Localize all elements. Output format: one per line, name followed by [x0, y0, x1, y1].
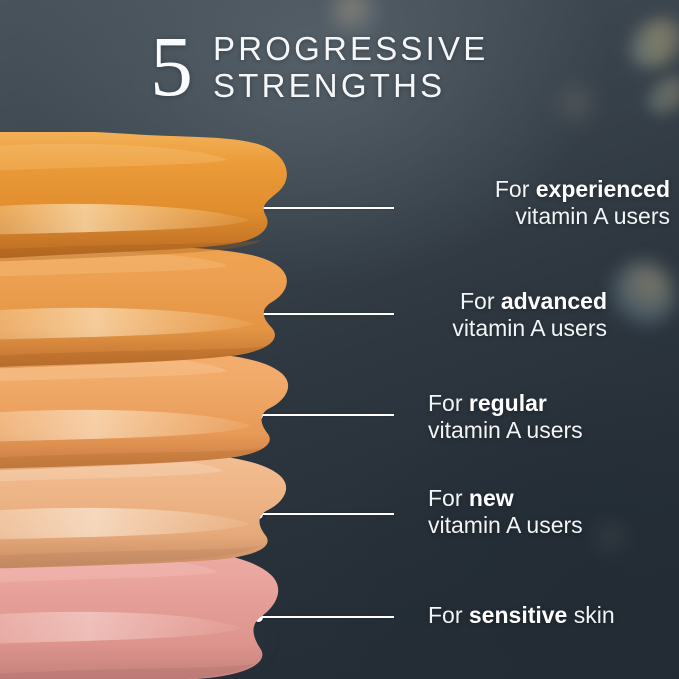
lens-flare-icon	[621, 9, 679, 78]
lens-flare-icon	[555, 84, 601, 126]
description-strength-1: For sensitive skin	[428, 602, 615, 629]
description-strength-6: For regular vitamin A users	[428, 390, 583, 444]
desc-prefix: For	[495, 176, 536, 202]
desc-emphasis: new	[469, 485, 514, 511]
desc-line-2: vitamin A users	[495, 203, 670, 230]
lens-flare-icon	[592, 520, 632, 556]
description-strength-3: For new vitamin A users	[428, 485, 583, 539]
page-title: 5 PROGRESSIVE STRENGTHS	[150, 24, 488, 108]
desc-prefix: For	[460, 288, 501, 314]
desc-line-2: vitamin A users	[428, 512, 583, 539]
swatch-strength-20	[0, 132, 320, 272]
description-strength-10: For advanced vitamin A users	[452, 288, 607, 342]
desc-emphasis: experienced	[536, 176, 670, 202]
desc-prefix: For	[428, 485, 469, 511]
desc-prefix: For	[428, 390, 469, 416]
desc-suffix: skin	[567, 602, 614, 628]
desc-line-2: vitamin A users	[428, 417, 583, 444]
promo-poster: 5 PROGRESSIVE STRENGTHS	[0, 0, 679, 679]
desc-line-2: vitamin A users	[452, 315, 607, 342]
swatch-stack: STRENGTH 20 (0.20% RETINALDEHYDE)	[0, 132, 340, 679]
desc-prefix: For	[428, 602, 469, 628]
description-strength-20: For experienced vitamin A users	[495, 176, 670, 230]
desc-emphasis: regular	[469, 390, 547, 416]
desc-emphasis: sensitive	[469, 602, 567, 628]
heading-numeral: 5	[150, 24, 193, 108]
heading-words: PROGRESSIVE STRENGTHS	[213, 30, 488, 104]
lens-flare-icon	[612, 262, 674, 328]
lens-flare-icon	[641, 69, 679, 121]
desc-emphasis: advanced	[501, 288, 607, 314]
heading-line-1: PROGRESSIVE	[213, 30, 488, 67]
heading-line-2: STRENGTHS	[213, 67, 488, 104]
